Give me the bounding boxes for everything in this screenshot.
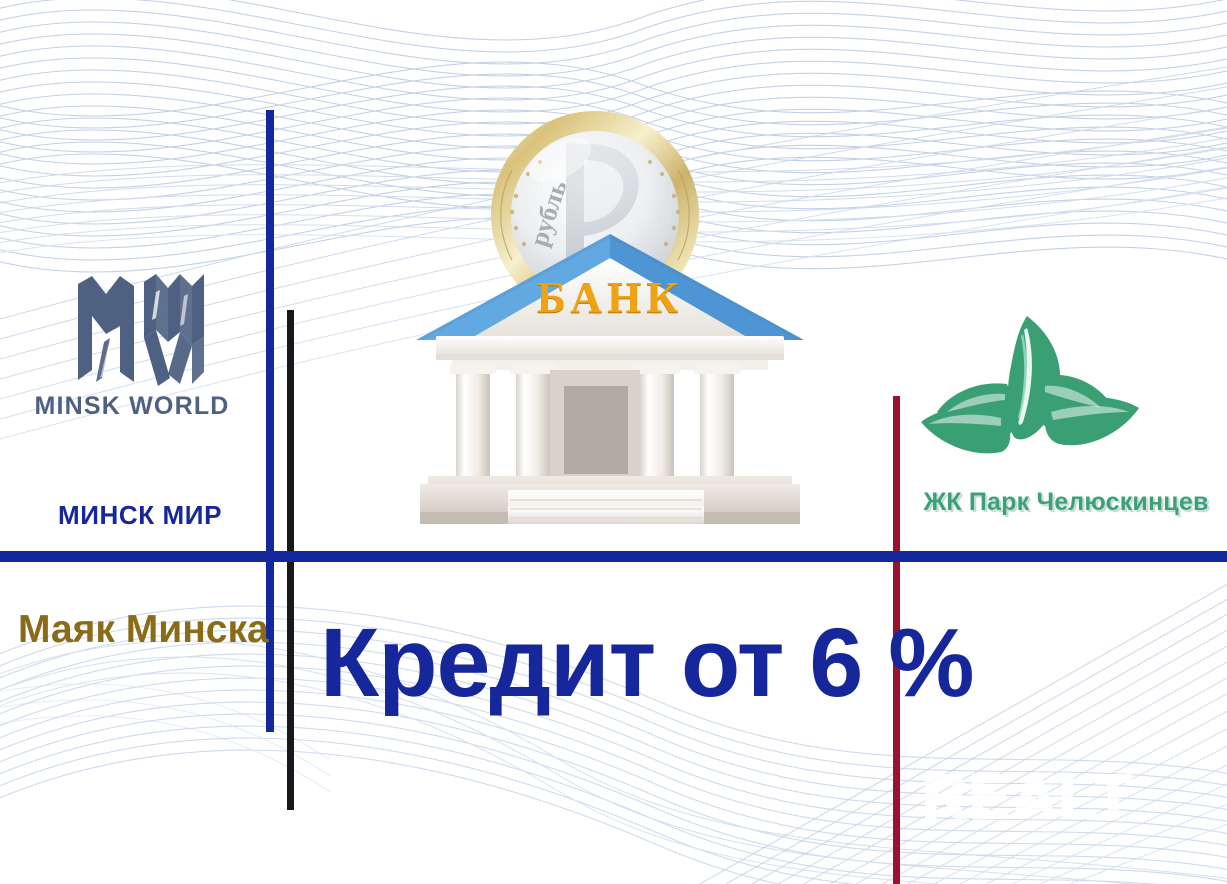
realt-watermark: REALT bbox=[922, 762, 1134, 833]
divider-horizontal-blue bbox=[0, 551, 1227, 562]
bank-illustration: рубль bbox=[400, 100, 820, 540]
green-leaf-sprout-icon bbox=[915, 312, 1143, 474]
project-label-park-chelyuskintsev: ЖК Парк Челюскинцев bbox=[905, 488, 1227, 517]
project-label-mayak-minska: Маяк Минска bbox=[18, 608, 258, 652]
project-label-minsk-mir: МИНСК МИР bbox=[30, 500, 250, 531]
minsk-world-mw-monogram-icon bbox=[72, 272, 230, 388]
credit-offer-slogan: Кредит от 6 % bbox=[320, 614, 974, 711]
minsk-world-wordmark: MINSK WORLD bbox=[22, 392, 242, 421]
bank-sign-label: БАНК bbox=[400, 272, 820, 323]
credit-promo-banner: MINSK WORLD МИНСК МИР Маяк Минска bbox=[0, 0, 1227, 884]
